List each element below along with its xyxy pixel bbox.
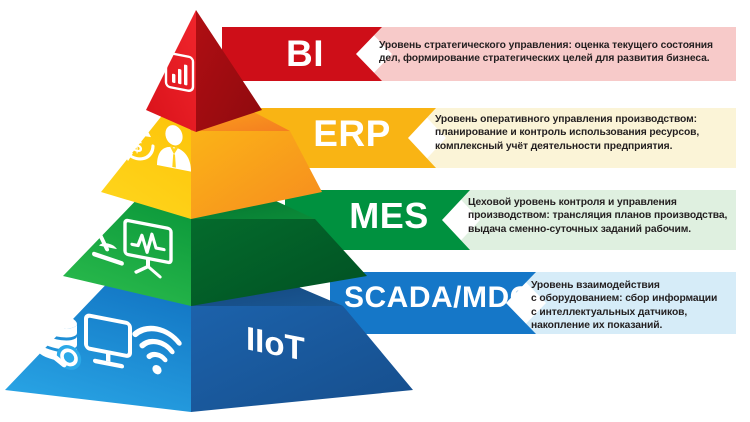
tier-label-scada: SCADA/MDC	[344, 279, 512, 317]
tier-label-bi: BI	[250, 34, 360, 74]
description-mes: Цеховой уровень контроля и управления пр…	[468, 196, 736, 236]
description-erp: Уровень оперативного управления производ…	[435, 113, 733, 153]
tier-label-mes: MES	[330, 195, 448, 237]
svg-text:$: $	[132, 135, 143, 158]
description-scada: Уровень взаимодействия с оборудованием: …	[531, 279, 736, 333]
description-bi: Уровень стратегического управления: оцен…	[379, 39, 729, 66]
tier-label-erp: ERP	[292, 113, 412, 155]
infographic-pyramid-diagram: $	[0, 0, 750, 422]
